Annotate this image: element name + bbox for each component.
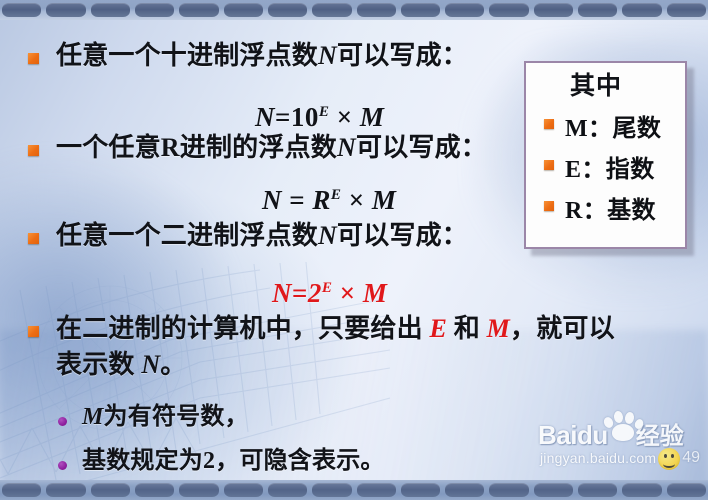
baidu-brand-text: Baidu经验 (538, 416, 684, 451)
radix-float-formula: N = RE × M (262, 185, 396, 216)
slide-canvas: 任意一个十进制浮点数N可以写成： N=10E × M 一个任意R进制的浮点数N可… (0, 0, 708, 500)
top-band-brick-pattern (0, 3, 708, 17)
sub-bullet-signed-mantissa-text: M为有符号数， (82, 403, 249, 433)
smiley-face-icon (658, 448, 680, 470)
decimal-float-formula: N=10E × M (255, 102, 384, 133)
slide-content: 任意一个十进制浮点数N可以写成： N=10E × M 一个任意R进制的浮点数N可… (0, 20, 708, 480)
binary-float-formula: N=2E × M (272, 278, 387, 309)
legend-item-radix-label: R：基数 (565, 190, 656, 225)
top-decorative-band (0, 0, 708, 20)
legend-item-exponent: E：指数 (526, 149, 685, 184)
sub-bullet-signed-mantissa: M为有符号数， (58, 403, 249, 433)
round-bullet-icon (58, 417, 67, 426)
square-bullet-icon (28, 326, 39, 337)
sub-bullet-implicit-radix: 基数规定为2，可隐含表示。 (58, 447, 385, 477)
bottom-band-brick-pattern (0, 483, 708, 497)
square-bullet-icon (28, 53, 39, 64)
bullet-line-binary-text: 任意一个二进制浮点数N可以写成： (56, 220, 468, 252)
legend-title: 其中 (526, 71, 685, 102)
square-bullet-icon (28, 145, 39, 156)
round-bullet-icon (58, 461, 67, 470)
bullet-line-radix-text: 一个任意R进制的浮点数N可以写成： (56, 132, 487, 164)
baidu-url-text: jingyan.baidu.com (540, 450, 656, 466)
bullet-line-binary: 任意一个二进制浮点数N可以写成： (28, 220, 468, 252)
bottom-decorative-band (0, 480, 708, 500)
baidu-paw-icon (602, 410, 644, 442)
legend-item-exponent-label: E：指数 (565, 149, 655, 184)
legend-box-definitions: 其中 M：尾数 E：指数 R：基数 (524, 61, 687, 249)
bullet-line-decimal-text: 任意一个十进制浮点数N可以写成： (56, 40, 468, 72)
page-number: 49 (682, 449, 700, 467)
bullet-line-radix: 一个任意R进制的浮点数N可以写成： (28, 132, 487, 164)
sub-bullet-implicit-radix-text: 基数规定为2，可隐含表示。 (82, 447, 385, 477)
square-bullet-icon (544, 201, 554, 211)
square-bullet-icon (544, 160, 554, 170)
square-bullet-icon (28, 233, 39, 244)
legend-item-mantissa-label: M：尾数 (565, 108, 661, 143)
legend-item-mantissa: M：尾数 (526, 108, 685, 143)
bullet-line-conclusion: 在二进制的计算机中，只要给出 E 和 M，就可以 表示数 N。 (28, 313, 615, 381)
legend-item-radix: R：基数 (526, 190, 685, 225)
bullet-line-conclusion-text: 在二进制的计算机中，只要给出 E 和 M，就可以 表示数 N。 (56, 313, 615, 381)
baidu-jingyan-watermark: Baidu经验 jingyan.baidu.com 49 (538, 410, 702, 468)
bullet-line-decimal: 任意一个十进制浮点数N可以写成： (28, 40, 468, 72)
square-bullet-icon (544, 119, 554, 129)
